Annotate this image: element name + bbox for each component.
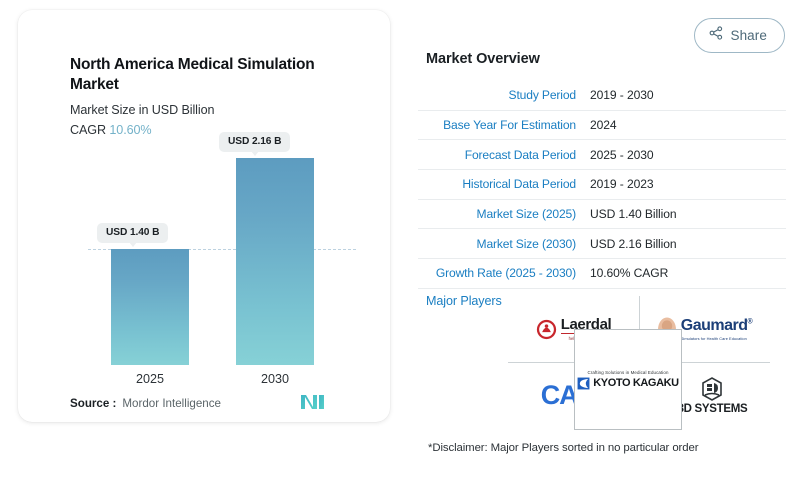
- bar-label-2025: USD 1.40 B: [97, 223, 168, 243]
- row-value: 2019 - 2030: [590, 88, 786, 102]
- laerdal-mark-icon: [536, 319, 557, 340]
- row-label: Market Size (2025): [418, 207, 590, 221]
- table-row: Forecast Data Period 2025 - 2030: [418, 140, 786, 170]
- row-value: 2025 - 2030: [590, 148, 786, 162]
- row-value: USD 2.16 Billion: [590, 237, 786, 251]
- row-value: USD 1.40 Billion: [590, 207, 786, 221]
- row-label: Growth Rate (2025 - 2030): [418, 266, 590, 280]
- cagr-value: 10.60%: [109, 123, 151, 137]
- market-overview-table: Study Period 2019 - 2030 Base Year For E…: [418, 81, 786, 289]
- row-value: 2024: [590, 118, 786, 132]
- source-row: Source : Mordor Intelligence: [70, 397, 360, 410]
- chart-subtitle: Market Size in USD Billion: [70, 103, 214, 117]
- major-players-logo-grid: Laerdal helping save lives Gaumard® Simu…: [508, 296, 770, 428]
- market-overview-title: Market Overview: [426, 51, 540, 67]
- three-d-systems-mark-icon: [700, 376, 724, 402]
- chart-cagr: CAGR 10.60%: [70, 123, 152, 137]
- table-row: Study Period 2019 - 2030: [418, 81, 786, 111]
- row-label: Study Period: [418, 88, 590, 102]
- share-nodes-icon: [709, 26, 723, 45]
- chart-title: North America Medical Simulation Market: [70, 55, 335, 95]
- source-label: Source :: [70, 397, 116, 410]
- table-row: Base Year For Estimation 2024: [418, 111, 786, 141]
- row-label: Market Size (2030): [418, 237, 590, 251]
- bar-2025[interactable]: [111, 249, 189, 365]
- table-row: Growth Rate (2025 - 2030) 10.60% CAGR: [418, 259, 786, 289]
- bar-label-2030: USD 2.16 B: [219, 132, 290, 152]
- x-axis-label-2025: 2025: [111, 372, 189, 386]
- mordor-intelligence-logo: [300, 391, 326, 416]
- gaumard-name: Gaumard®: [681, 318, 752, 334]
- bar-chart-plot: USD 1.40 B USD 2.16 B 2025 2030: [70, 150, 360, 365]
- row-value: 2019 - 2023: [590, 177, 786, 191]
- source-value: Mordor Intelligence: [122, 397, 221, 410]
- share-button[interactable]: Share: [694, 18, 785, 53]
- table-row: Market Size (2030) USD 2.16 Billion: [418, 229, 786, 259]
- players-disclaimer: *Disclaimer: Major Players sorted in no …: [428, 442, 698, 454]
- major-players-title: Major Players: [426, 294, 502, 308]
- gaumard-name-text: Gaumard: [681, 317, 748, 334]
- row-value: 10.60% CAGR: [590, 266, 786, 280]
- player-cell-kyoto-kagaku[interactable]: Crafting Solutions in Medical Education …: [574, 329, 682, 430]
- bar-2030[interactable]: [236, 158, 314, 365]
- market-report-infographic: North America Medical Simulation Market …: [0, 0, 800, 482]
- x-axis-label-2030: 2030: [236, 372, 314, 386]
- row-label: Forecast Data Period: [418, 148, 590, 162]
- kyoto-kagaku-tagline: Crafting Solutions in Medical Education: [587, 370, 668, 375]
- share-button-label: Share: [730, 28, 767, 43]
- table-row: Market Size (2025) USD 1.40 Billion: [418, 200, 786, 230]
- kyoto-kagaku-name: KYOTO KAGAKU: [593, 377, 678, 389]
- three-d-systems-logo: 3D SYSTEMS: [678, 376, 748, 415]
- gaumard-tagline: Simulators for Health Care Education: [681, 336, 752, 341]
- kyoto-kagaku-mark-icon: [577, 377, 590, 390]
- chart-card: North America Medical Simulation Market …: [18, 10, 390, 422]
- row-label: Historical Data Period: [418, 177, 590, 191]
- three-d-systems-name: 3D SYSTEMS: [678, 403, 748, 415]
- table-row: Historical Data Period 2019 - 2023: [418, 170, 786, 200]
- row-label: Base Year For Estimation: [418, 118, 590, 132]
- cagr-label: CAGR: [70, 123, 106, 137]
